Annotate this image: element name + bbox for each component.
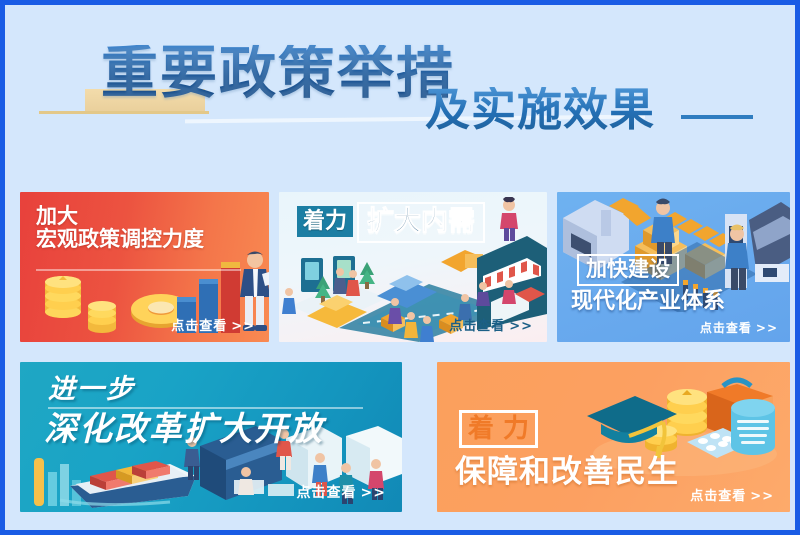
card-livelihood-cta[interactable]: 点击查看>> [690,485,774,504]
card-macro-cta-arrows: >> [231,319,255,334]
card-industry-tag: 加快建设 [577,254,679,286]
card-demand-title: 扩大内需 [357,202,485,243]
card-demand-cta[interactable]: 点击查看>> [449,315,533,334]
page-subtitle: 及实施效果 [425,87,655,132]
card-livelihood-cta-label: 点击查看 [690,488,746,503]
card-macro-title-rule [36,269,241,271]
card-demand-cta-arrows: >> [509,319,533,334]
card-demand-cta-label: 点击查看 [449,318,505,333]
card-livelihood-title: 保障和改善民生 [455,456,679,487]
card-reform-cta-label: 点击查看 [297,484,357,500]
card-macro-cta-label: 点击查看 [171,318,227,333]
card-livelihood-tag-char1: 着 [468,415,494,441]
page-title: 重要政策举措 [101,45,455,102]
card-reform-cta-arrows: >> [361,485,386,501]
card-reform-opening[interactable]: 进一步 深化改革扩大开放 点击查看>> [20,362,402,512]
page-root: 重要政策举措 重要政策举措 及实施效果 [0,0,800,535]
card-livelihood-tag-char2: 力 [503,415,529,441]
card-industry-title: 现代化产业体系 [571,290,725,312]
card-reform-cta[interactable]: 点击查看>> [297,482,386,502]
card-macro-policy[interactable]: 加大 宏观政策调控力度 点击查看>> [20,192,269,342]
card-industry-cta[interactable]: 点击查看>> [700,319,778,336]
coin-stacks-illustration [36,270,126,338]
card-industry-cta-label: 点击查看 [700,321,752,335]
card-macro-title: 加大 宏观政策调控力度 [36,206,204,251]
card-macro-cta[interactable]: 点击查看>> [171,315,255,334]
card-reform-line1: 进一步 [48,376,135,403]
page-header: 重要政策举措 重要政策举措 及实施效果 [5,5,795,180]
card-reform-title-rule [48,407,363,409]
card-macro-line1: 加大 [36,205,78,228]
card-demand-tag: 着力 [297,206,353,237]
title-end-dash [681,115,753,119]
card-modern-industry[interactable]: 加快建设 现代化产业体系 点击查看>> [557,192,790,342]
card-industry-cta-arrows: >> [756,321,778,335]
card-macro-line2: 宏观政策调控力度 [36,228,204,251]
card-livelihood-tag: 着力 [459,410,538,448]
card-reform-line2: 深化改革扩大开放 [44,412,324,445]
card-expand-demand[interactable]: 着力 扩大内需 点击查看>> [279,192,547,342]
card-livelihood[interactable]: 着力 保障和改善民生 点击查看>> [437,362,790,512]
title-gold-rule [39,111,209,114]
pedestrian-illustration [494,197,524,243]
card-livelihood-cta-arrows: >> [750,489,774,504]
